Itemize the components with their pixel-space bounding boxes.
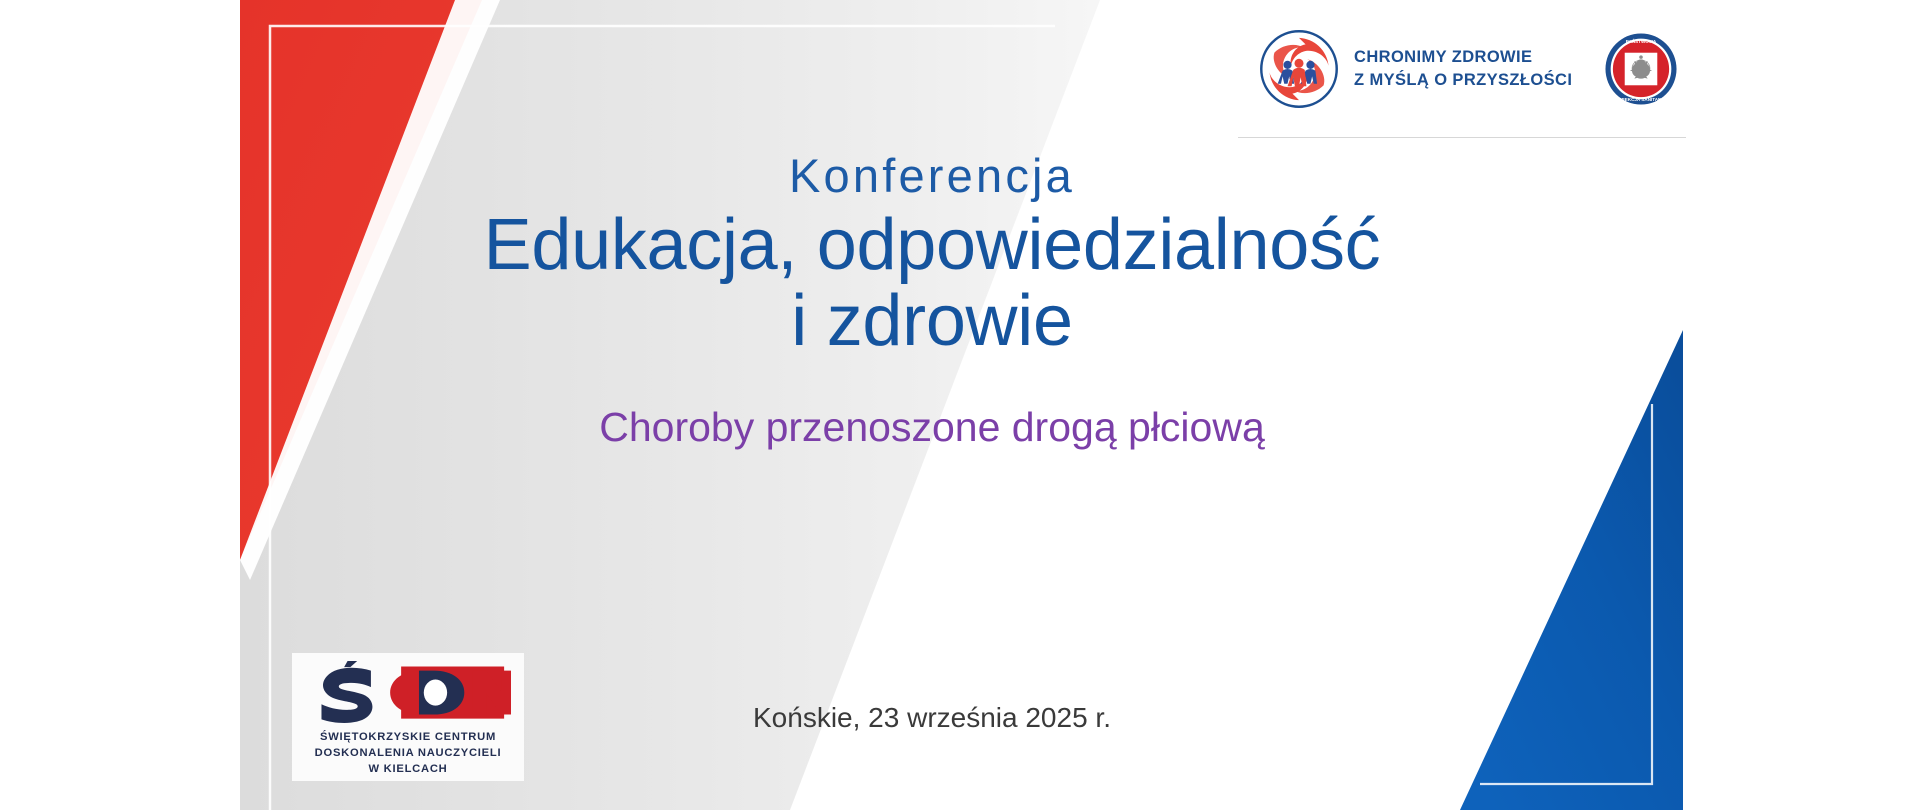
header-branding: CHRONIMY ZDROWIE Z MYŚLĄ O PRZYSZŁOŚCI — [1258, 18, 1678, 138]
page-title: Edukacja, odpowiedzialność i zdrowie — [392, 207, 1472, 360]
scdn-wordmark-icon — [305, 661, 511, 725]
seal-bottom-text: INSPEKCJA SANITARNA — [1614, 97, 1669, 102]
slogan-line-1: CHRONIMY ZDROWIE — [1354, 49, 1590, 66]
scdn-logo: ŚWIĘTOKRZYSKIE CENTRUM DOSKONALENIA NAUC… — [292, 653, 524, 781]
scdn-name-line-3: W KIELCACH — [315, 762, 502, 778]
presentation-slide: CHRONIMY ZDROWIE Z MYŚLĄ O PRZYSZŁOŚCI — [0, 0, 1920, 810]
panstwowa-inspekcja-sanitarna-seal: PAŃSTWOWA INSPEKCJA SANITARNA — [1604, 32, 1678, 106]
chronimy-zdrowie-logo — [1258, 28, 1340, 110]
title-block: Konferencja Edukacja, odpowiedzialność i… — [392, 150, 1472, 452]
conference-kicker: Konferencja — [392, 150, 1472, 203]
title-line-2: i zdrowie — [392, 283, 1472, 359]
scdn-name-line-2: DOSKONALENIA NAUCZYCIELI — [315, 746, 502, 762]
blue-triangle-shape — [1460, 330, 1683, 810]
date-and-place: Końskie, 23 września 2025 r. — [392, 702, 1472, 734]
subtitle: Choroby przenoszone drogą płciową — [392, 403, 1472, 452]
title-line-1: Edukacja, odpowiedzialność — [392, 207, 1472, 283]
scdn-institution-name: ŚWIĘTOKRZYSKIE CENTRUM DOSKONALENIA NAUC… — [315, 730, 502, 778]
header-divider — [1238, 137, 1686, 138]
chronimy-zdrowie-slogan: CHRONIMY ZDROWIE Z MYŚLĄ O PRZYSZŁOŚCI — [1354, 49, 1590, 89]
slogan-line-2: Z MYŚLĄ O PRZYSZŁOŚCI — [1354, 72, 1590, 89]
scdn-name-line-1: ŚWIĘTOKRZYSKIE CENTRUM — [315, 730, 502, 746]
